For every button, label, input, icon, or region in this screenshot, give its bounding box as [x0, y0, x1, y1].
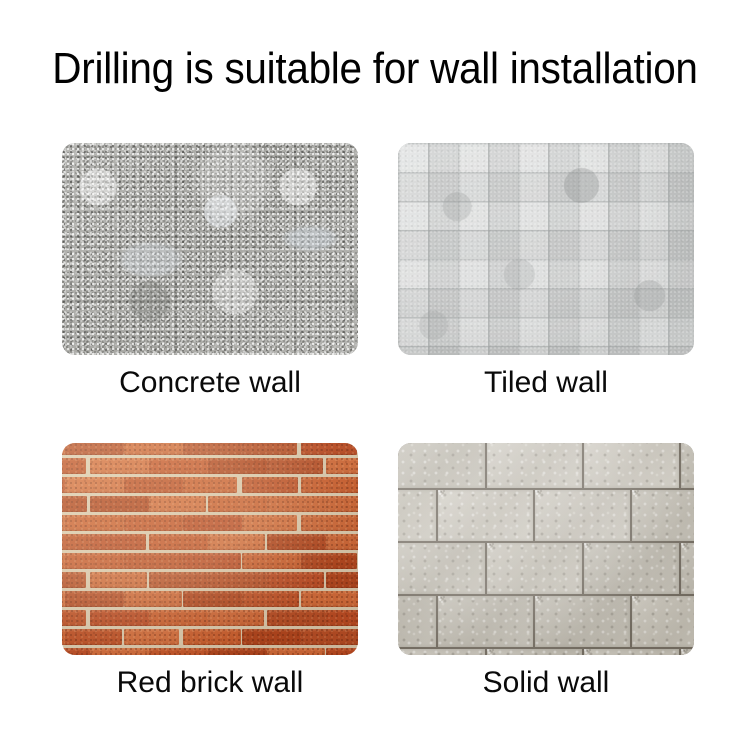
brick-unit: [90, 610, 152, 626]
brick-unit: [301, 553, 357, 569]
stone-grain: [398, 490, 436, 541]
brick-unit: [208, 648, 271, 655]
stone-unit: [584, 443, 679, 488]
concrete-wall-image: [62, 143, 358, 355]
stone-unit: [398, 596, 436, 647]
brick-unit: [90, 572, 147, 588]
brick-unit: [326, 458, 358, 474]
brick-course: [62, 534, 358, 553]
stone-grain: [632, 596, 694, 647]
brick-unit: [65, 515, 124, 531]
stone-unit: [632, 490, 694, 541]
wall-card-label-concrete: Concrete wall: [22, 365, 398, 401]
brick-unit: [267, 610, 327, 626]
concrete-texture-mottle: [62, 143, 358, 355]
brick-unit: [90, 458, 153, 474]
brick-unit: [124, 629, 179, 645]
stone-unit: [584, 649, 679, 655]
brick-unit: [267, 534, 329, 550]
brick-unit: [267, 496, 328, 512]
brick-unit: [183, 591, 246, 607]
brick-unit: [149, 572, 209, 588]
wall-card-tiled[interactable]: Tiled wall: [398, 143, 694, 355]
brick-course: [62, 553, 358, 572]
stone-unit: [487, 649, 582, 655]
stone-course: [398, 543, 694, 596]
brick-unit: [65, 629, 122, 645]
wall-card-red-brick[interactable]: Red brick wall: [62, 443, 358, 655]
wall-type-grid: Concrete wall Tiled wall Red brick wall …: [62, 143, 688, 655]
brick-unit: [149, 648, 209, 655]
stone-course: [398, 443, 694, 490]
stone-unit: [681, 649, 694, 655]
brick-unit: [62, 458, 86, 474]
stone-unit: [535, 490, 630, 541]
stone-grain: [681, 443, 694, 488]
stone-unit: [438, 596, 533, 647]
brick-course: [62, 610, 358, 629]
stone-grain: [487, 649, 582, 655]
stone-grain: [535, 490, 630, 541]
brick-unit: [90, 648, 150, 655]
brick-unit: [124, 515, 183, 531]
wall-card-concrete[interactable]: Concrete wall: [62, 143, 358, 355]
wall-card-label-solid: Solid wall: [358, 665, 734, 701]
brick-unit: [267, 648, 325, 655]
brick-course: [62, 648, 358, 655]
brick-unit: [208, 458, 268, 474]
brick-unit: [90, 496, 150, 512]
brick-unit: [65, 443, 124, 455]
brick-unit: [208, 610, 264, 626]
brick-unit: [301, 443, 357, 455]
stone-grain: [398, 649, 485, 655]
wall-card-solid[interactable]: Solid wall: [398, 443, 694, 655]
brick-unit: [242, 443, 297, 455]
stone-grain: [632, 490, 694, 541]
stone-grain: [398, 596, 436, 647]
stone-grain: [438, 490, 533, 541]
stone-grain: [398, 543, 485, 594]
tiled-texture-variation: [398, 143, 694, 355]
brick-unit: [149, 458, 210, 474]
brick-unit: [62, 572, 86, 588]
stone-unit: [398, 490, 436, 541]
stone-grain: [681, 649, 694, 655]
brick-unit: [301, 477, 358, 493]
stone-grain: [535, 596, 630, 647]
brick-unit: [326, 610, 358, 626]
brick-unit: [183, 443, 246, 455]
brick-unit: [62, 534, 91, 550]
brick-course: [62, 496, 358, 515]
brick-unit: [301, 591, 358, 607]
brick-unit: [242, 477, 298, 493]
stone-course: [398, 490, 694, 543]
stone-unit: [584, 543, 679, 594]
brick-unit: [267, 572, 324, 588]
stone-unit: [487, 443, 582, 488]
brick-unit: [149, 534, 209, 550]
brick-unit: [124, 553, 187, 569]
brick-unit: [65, 553, 125, 569]
wall-card-label-tiled: Tiled wall: [358, 365, 734, 401]
brick-unit: [326, 572, 358, 588]
brick-unit: [149, 610, 209, 626]
stone-unit: [681, 443, 694, 488]
brick-course: [62, 515, 358, 534]
brick-unit: [90, 534, 146, 550]
stone-grain: [584, 543, 679, 594]
stone-unit: [398, 543, 485, 594]
stone-unit: [398, 649, 485, 655]
brick-unit: [267, 458, 323, 474]
brick-unit: [301, 629, 358, 645]
brick-unit: [208, 496, 268, 512]
brick-course: [62, 629, 358, 648]
brick-unit: [183, 515, 245, 531]
brick-unit: [326, 534, 358, 550]
wall-card-label-red-brick: Red brick wall: [22, 665, 398, 701]
stone-grain: [487, 543, 582, 594]
brick-unit: [208, 534, 265, 550]
stone-unit: [681, 543, 694, 594]
brick-unit: [301, 515, 358, 531]
brick-course: [62, 458, 358, 477]
brick-unit: [208, 572, 269, 588]
brick-unit: [124, 591, 182, 607]
stone-grain: [398, 443, 485, 488]
brick-unit: [242, 515, 297, 531]
stone-unit: [398, 443, 485, 488]
brick-unit: [149, 496, 206, 512]
red-brick-wall-image: [62, 443, 358, 655]
brick-unit: [65, 477, 128, 493]
stone-unit: [487, 543, 582, 594]
brick-unit: [124, 477, 186, 493]
brick-course: [62, 477, 358, 496]
brick-unit: [242, 591, 299, 607]
brick-unit: [326, 496, 358, 512]
tiled-wall-image: [398, 143, 694, 355]
brick-unit: [65, 591, 124, 607]
brick-course: [62, 572, 358, 591]
stone-unit: [632, 596, 694, 647]
brick-unit: [242, 629, 302, 645]
stone-course: [398, 596, 694, 649]
brick-unit: [124, 443, 185, 455]
brick-course: [62, 591, 358, 610]
brick-unit: [183, 553, 241, 569]
brick-unit: [183, 629, 241, 645]
stone-grain: [487, 443, 582, 488]
solid-wall-image: [398, 443, 694, 655]
stone-grain: [681, 543, 694, 594]
brick-unit: [62, 496, 87, 512]
brick-unit: [62, 610, 86, 626]
brick-unit: [183, 477, 237, 493]
stone-grain: [584, 649, 679, 655]
brick-unit: [62, 648, 92, 655]
stone-course: [398, 649, 694, 655]
stone-grain: [438, 596, 533, 647]
brick-unit: [326, 648, 358, 655]
brick-unit: [242, 553, 304, 569]
stone-unit: [438, 490, 533, 541]
brick-course: [62, 443, 358, 458]
stone-grain: [584, 443, 679, 488]
page-title: Drilling is suitable for wall installati…: [30, 44, 720, 94]
stone-unit: [535, 596, 630, 647]
